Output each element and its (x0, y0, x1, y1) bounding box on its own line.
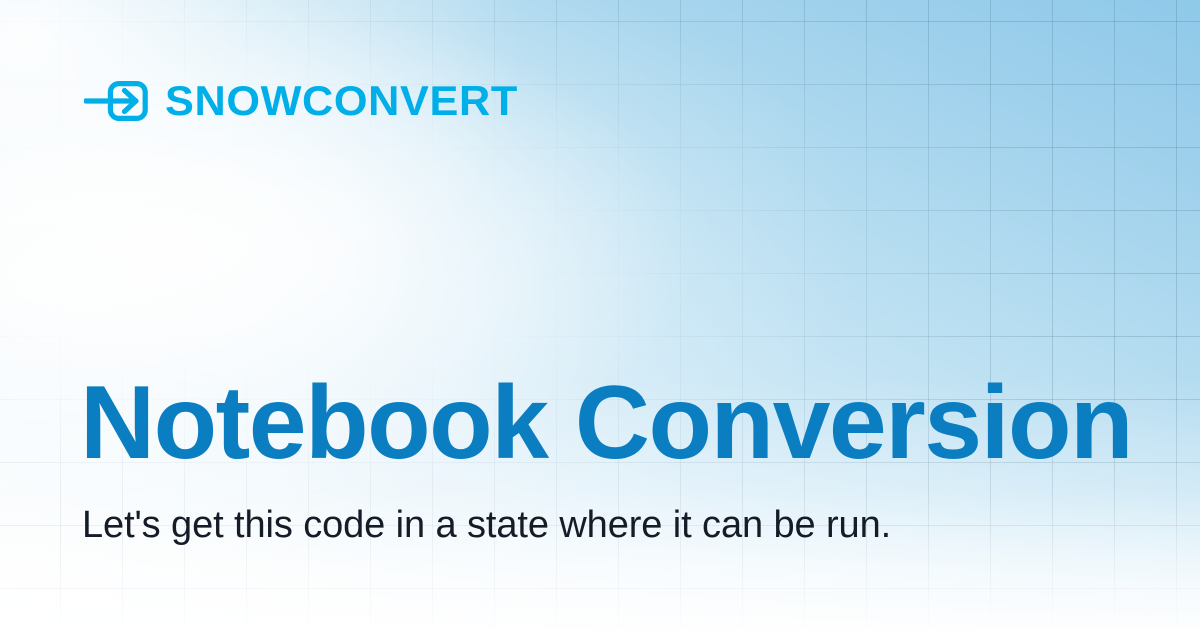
snowconvert-wordmark: SNOWCONVERT (165, 80, 518, 122)
social-share-banner: SNOWCONVERT Notebook Conversion Let's ge… (0, 0, 1200, 630)
page-subtitle: Let's get this code in a state where it … (82, 502, 891, 550)
page-title: Notebook Conversion (80, 368, 1132, 478)
snowconvert-logo[interactable]: SNOWCONVERT (84, 70, 508, 132)
banner-content: SNOWCONVERT Notebook Conversion Let's ge… (0, 0, 1200, 630)
snowconvert-arrow-diamond-icon (84, 70, 152, 132)
